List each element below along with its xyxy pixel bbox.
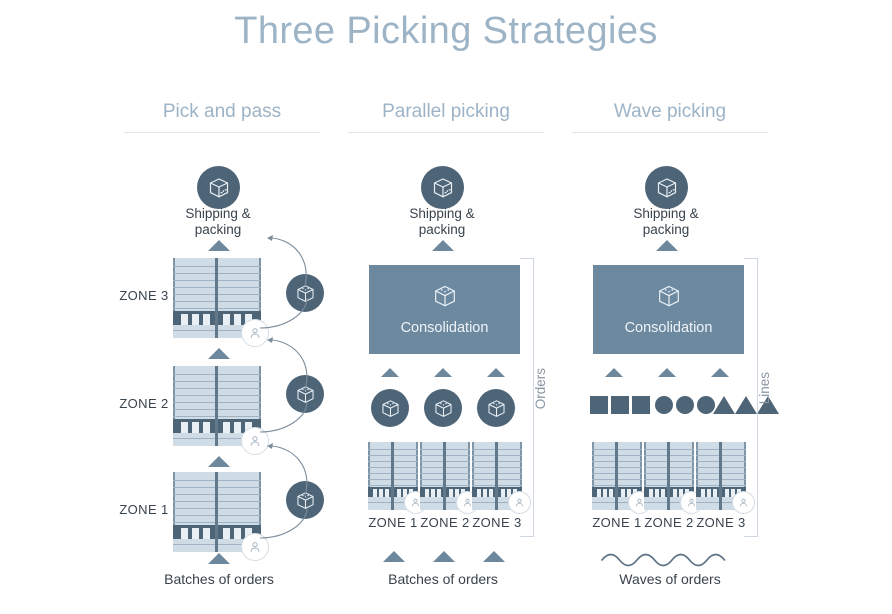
bottom-arrow-col2-1 [383,551,405,562]
shipping-packing-label-col2: Shipping &packing [409,206,474,237]
line-shape-square [611,396,629,414]
flow-arrow-lines-1 [605,368,623,377]
zone-label-col3-z2: ZONE 2 [639,515,699,530]
flow-arrow-lines-3 [711,368,729,377]
shipping-box-icon-col3 [645,166,688,209]
bottom-label-col2: Batches of orders [363,571,523,587]
open-box-icon-col2-z3 [477,389,515,427]
shipping-packing-caption-col2: Shipping &packing [376,206,508,238]
flow-arrow-zone1-col2 [381,368,399,377]
bottom-arrow-col1 [208,553,230,564]
shipping-packing-label: Shipping &packing [185,206,250,237]
open-box-icon-col2-z2 [424,389,462,427]
open-box-icon-col2-z1 [371,389,409,427]
flow-arrow-z2-to-z3 [208,348,230,359]
column-header-rule [348,132,544,133]
orders-bracket-label: Orders [533,368,548,409]
zone-label-col2-z3: ZONE 3 [467,515,527,530]
column-header-label: Pick and pass [124,101,320,132]
pass-along-arrows [255,228,345,568]
bottom-label-col3: Waves of orders [590,571,750,587]
bottom-label-col1: Batches of orders [139,571,299,587]
consolidation-box-col2: Consolidation [369,265,520,354]
zone-label-z2: ZONE 2 [108,396,180,411]
zone-label-col2-z1: ZONE 1 [363,515,423,530]
page-title: Three Picking Strategies [0,10,892,53]
zone-label-col3-z3: ZONE 3 [691,515,751,530]
flow-arrow-lines-2 [658,368,676,377]
shipping-packing-caption-col3: Shipping &packing [600,206,732,238]
column-header-parallel-picking: Parallel picking [348,101,544,133]
flow-arrow-z1-to-z2 [208,456,230,467]
flow-arrow-zone3-col2 [487,368,505,377]
column-header-label: Parallel picking [348,101,544,132]
infographic-root: Three Picking Strategies Pick and pass P… [0,0,892,614]
zone-label-z1: ZONE 1 [108,502,180,517]
consolidation-label-col3: Consolidation [625,320,713,336]
column-header-rule [572,132,768,133]
shipping-box-icon-col2 [421,166,464,209]
shipping-box-icon [197,166,240,209]
lines-bracket [744,258,758,537]
line-shape-square [590,396,608,414]
orders-bracket [520,258,534,537]
shipping-packing-label-col3: Shipping &packing [633,206,698,237]
line-shape-triangle [713,396,735,414]
waves-of-orders-squiggle [600,548,740,570]
open-box-icon-consolidation-col2 [432,283,458,313]
zone-label-col2-z2: ZONE 2 [415,515,475,530]
line-shape-square [632,396,650,414]
flow-arrow-to-shipping-col3 [656,240,678,251]
flow-arrow-to-shipping [208,240,230,251]
zone-label-col3-z1: ZONE 1 [587,515,647,530]
flow-arrow-to-shipping-col2 [432,240,454,251]
line-shape-circle [655,396,673,414]
column-header-pick-and-pass: Pick and pass [124,101,320,133]
consolidation-label-col2: Consolidation [401,320,489,336]
bottom-arrow-col2-2 [433,551,455,562]
column-header-label: Wave picking [572,101,768,132]
open-box-icon-consolidation-col3 [656,283,682,313]
column-header-rule [124,132,320,133]
consolidation-box-col3: Consolidation [593,265,744,354]
bottom-arrow-col2-3 [483,551,505,562]
flow-arrow-zone2-col2 [434,368,452,377]
line-shape-circle [676,396,694,414]
lines-bracket-label: Lines [757,372,772,404]
zone-label-z3: ZONE 3 [108,288,180,303]
column-header-wave-picking: Wave picking [572,101,768,133]
